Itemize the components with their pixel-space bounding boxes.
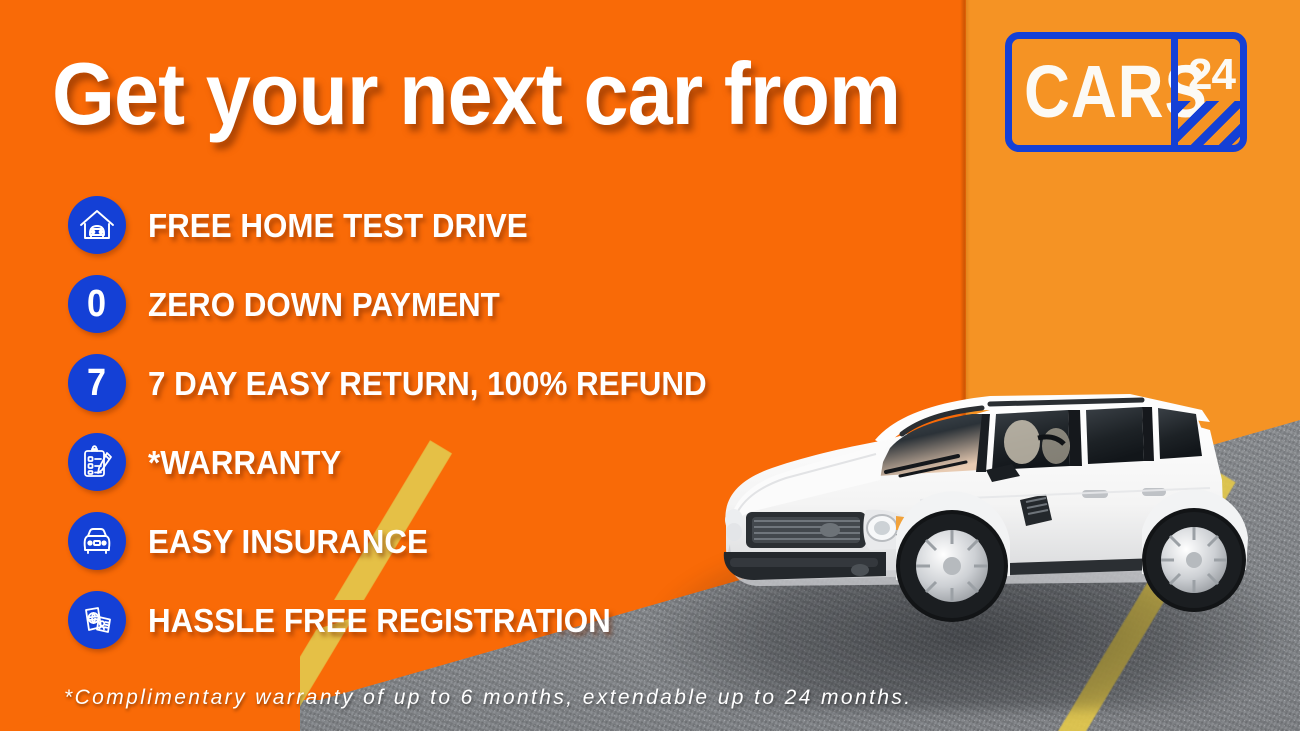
feature-row-zero-down-payment: 0 ZERO DOWN PAYMENT xyxy=(68,275,736,333)
feature-row-7-day-easy-return: 7 7 DAY EASY RETURN, 100% REFUND xyxy=(68,354,736,412)
white-suv-photo xyxy=(690,330,1290,630)
feature-row-warranty: *WARRANTY xyxy=(68,433,736,491)
feature-row-free-home-test-drive: FREE HOME TEST DRIVE xyxy=(68,196,736,254)
car-front-icon xyxy=(68,512,126,570)
feature-row-easy-insurance: EASY INSURANCE xyxy=(68,512,736,570)
logo-number: 24 xyxy=(1188,53,1235,97)
disclaimer-text: *Complimentary warranty of up to 6 month… xyxy=(64,686,913,710)
clipboard-pen-icon xyxy=(68,433,126,491)
feature-badge: 0 xyxy=(87,285,106,323)
feature-label: FREE HOME TEST DRIVE xyxy=(148,209,528,242)
feature-label: 7 DAY EASY RETURN, 100% REFUND xyxy=(148,367,707,400)
feature-list: FREE HOME TEST DRIVE 0 ZERO DOWN PAYMENT… xyxy=(68,196,736,670)
seven-number-icon: 7 xyxy=(68,354,126,412)
logo-divider xyxy=(1171,39,1178,145)
feature-label: HASSLE FREE REGISTRATION xyxy=(148,604,611,637)
feature-label: EASY INSURANCE xyxy=(148,525,428,558)
feature-row-hassle-free-registration: HASSLE FREE REGISTRATION xyxy=(68,591,736,649)
logo-stripes-icon xyxy=(1178,101,1240,145)
feature-badge: 7 xyxy=(87,364,106,402)
zero-number-icon: 0 xyxy=(68,275,126,333)
page-title: Get your next car from xyxy=(52,50,900,138)
cars24-promo-banner: Get your next car from CARS 24 xyxy=(0,0,1300,731)
cars24-logo[interactable]: CARS 24 xyxy=(1005,32,1247,152)
feature-label: ZERO DOWN PAYMENT xyxy=(148,288,500,321)
feature-label: *WARRANTY xyxy=(148,446,341,479)
home-garage-car-icon xyxy=(68,196,126,254)
documents-id-icon xyxy=(68,591,126,649)
